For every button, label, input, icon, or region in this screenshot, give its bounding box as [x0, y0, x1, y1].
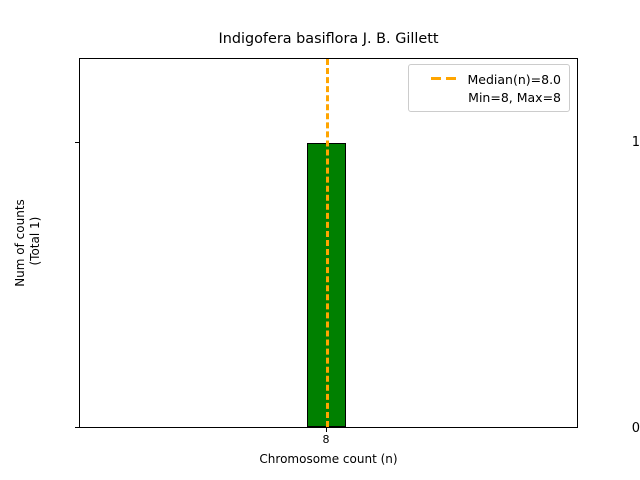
- y-axis-tick-label-0: 0: [568, 422, 640, 435]
- legend-label-median: Median(n)=8.0: [468, 72, 562, 87]
- y-axis-label: Num of counts (Total 1): [13, 199, 43, 287]
- median-line: [326, 59, 329, 427]
- dashed-line-icon: [431, 73, 459, 85]
- x-axis-tick-mark-8: [326, 428, 327, 432]
- legend: Median(n)=8.0 Min=8, Max=8: [408, 64, 570, 112]
- x-axis-label: Chromosome count (n): [79, 452, 578, 466]
- plot-area: [79, 58, 578, 428]
- legend-entry-minmax: Min=8, Max=8: [417, 88, 561, 106]
- y-axis-label-container: Num of counts (Total 1): [0, 58, 56, 428]
- x-axis-tick-label-8: 8: [323, 434, 330, 446]
- y-axis-tick-label-1: 1: [568, 136, 640, 149]
- legend-entry-median: Median(n)=8.0: [417, 70, 561, 88]
- chart-title: Indigofera basiflora J. B. Gillett: [79, 30, 578, 48]
- legend-label-minmax: Min=8, Max=8: [468, 90, 561, 105]
- chart-figure: Indigofera basiflora J. B. Gillett Num o…: [0, 0, 640, 480]
